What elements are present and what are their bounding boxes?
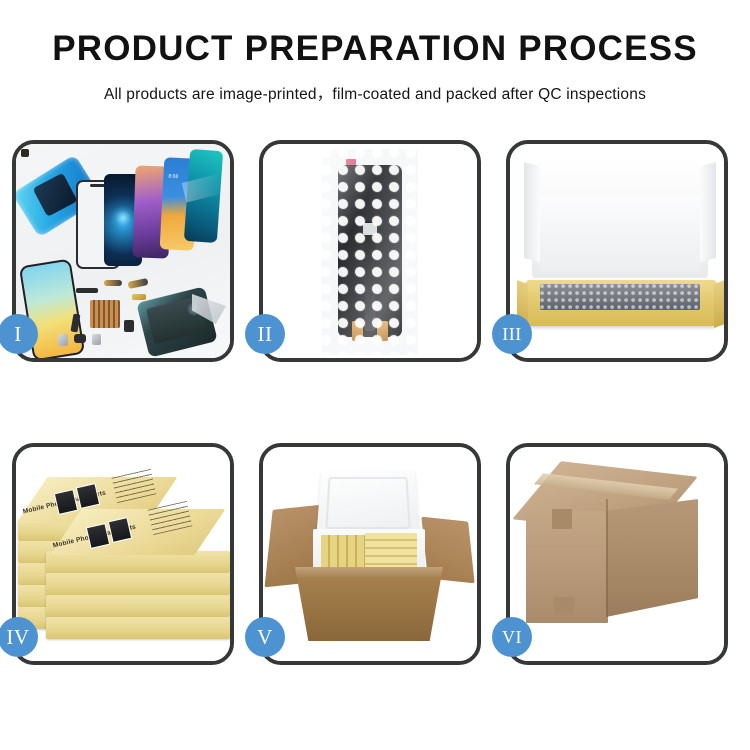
spare-part-sim-tray [92, 334, 101, 345]
spare-part-bracket [58, 334, 68, 346]
step-badge-5: V [245, 617, 285, 657]
spare-part-ribbon [104, 280, 122, 286]
page-header: PRODUCT PREPARATION PROCESS All products… [0, 0, 750, 104]
plastic-sheen [322, 149, 418, 355]
ic-chip-grid-part [90, 300, 120, 328]
process-step-panel-3[interactable]: III [506, 140, 728, 362]
stacked-box [46, 595, 230, 617]
spare-part-gold-contact [132, 294, 146, 300]
process-step-panel-6[interactable]: VI [506, 443, 728, 665]
step-2-image [263, 144, 477, 358]
stacked-box [46, 573, 230, 595]
styrofoam-lid [316, 470, 420, 537]
bubble-wrap-bag [322, 149, 418, 355]
step-3-image [510, 144, 724, 358]
process-step-panel-2[interactable]: II [259, 140, 481, 362]
spare-part-chip [76, 288, 98, 293]
spare-part-camera [124, 320, 134, 332]
bubble-wrap-inside-box [540, 284, 700, 310]
foam-sheet [540, 196, 700, 272]
carton-corner-edge [606, 499, 608, 617]
step-badge-2: II [245, 314, 285, 354]
stacked-box [46, 617, 230, 639]
box-tray-right-wall [714, 280, 724, 328]
process-step-panel-4[interactable]: Mobile Phone Spare Parts Mobile Phone Sp… [12, 443, 234, 665]
step-5-image [263, 447, 477, 661]
step-4-image: Mobile Phone Spare Parts Mobile Phone Sp… [16, 447, 230, 661]
page-subtitle: All products are image-printed，film-coat… [0, 82, 750, 104]
process-step-panel-1[interactable]: I [12, 140, 234, 362]
carton-tape-tab-top [552, 509, 572, 529]
second-box-lid [50, 509, 225, 555]
carton-body [295, 567, 443, 641]
carton-side-face [606, 499, 698, 617]
spare-part-button [74, 334, 86, 343]
page-title: PRODUCT PREPARATION PROCESS [0, 30, 750, 69]
kraft-box-tray [526, 280, 716, 326]
phone-display-teal [184, 149, 223, 243]
step-badge-6: VI [492, 617, 532, 657]
step-6-image [510, 447, 724, 661]
step-badge-3: III [492, 314, 532, 354]
process-step-panel-5[interactable]: V [259, 443, 481, 665]
retail-box-stack: Mobile Phone Spare Parts Mobile Phone Sp… [16, 447, 230, 661]
carton-tape-tab-bottom [554, 597, 574, 613]
process-step-grid: I II III [12, 140, 738, 665]
step-1-image [16, 144, 230, 358]
